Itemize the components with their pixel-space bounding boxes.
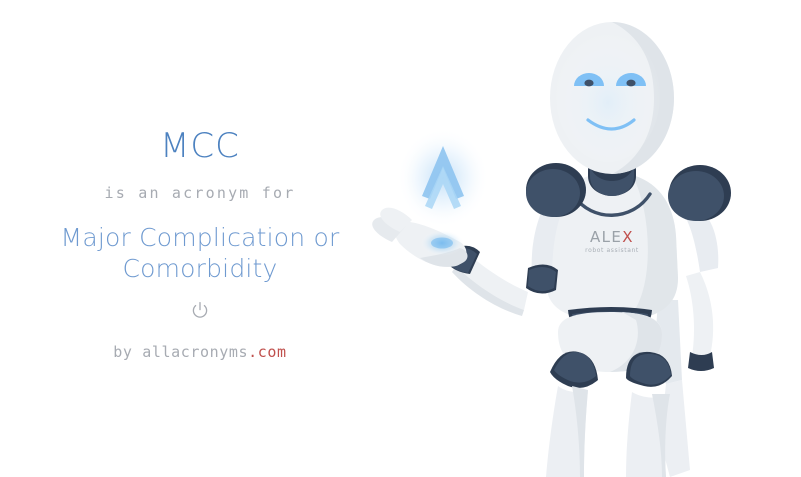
chest-sublabel: robot assistant [585, 247, 639, 254]
power-icon-wrap [0, 301, 400, 323]
chest-label: ALEX [590, 228, 634, 246]
byline: by allacronyms.com [0, 345, 400, 360]
text-column: MCC is an acronym for Major Complication… [0, 0, 400, 477]
acronym-page: MCC is an acronym for Major Complication… [0, 0, 801, 477]
robot-head [550, 22, 674, 174]
chevron-hologram [397, 128, 489, 228]
robot-legs [546, 386, 670, 477]
byline-prefix: by [113, 343, 142, 361]
robot-illustration: ALEX robot assistant [360, 0, 801, 477]
acronym-definition: Major Complication or Comorbidity [0, 222, 400, 284]
byline-tld: .com [248, 343, 287, 361]
power-icon [190, 301, 210, 321]
acronym-connector-text: is an acronym for [0, 186, 400, 201]
robot-svg: ALEX robot assistant [360, 0, 801, 477]
robot-pelvis [550, 307, 672, 388]
definition-line-2: Comorbidity [0, 253, 400, 284]
acronym-title: MCC [0, 129, 400, 163]
byline-site: allacronyms [142, 343, 248, 361]
definition-line-1: Major Complication or [0, 222, 400, 253]
